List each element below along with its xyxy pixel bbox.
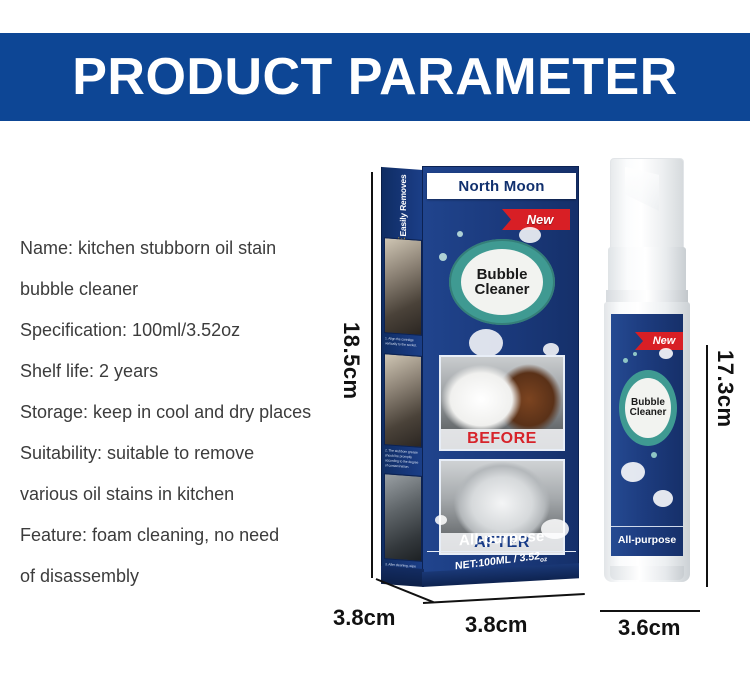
spec-line-storage: Storage: keep in cool and dry places	[20, 392, 350, 433]
bubble-decoration-icon	[651, 452, 657, 458]
before-photo-label: BEFORE	[441, 429, 563, 449]
side-fineprint-2: 2. The stubborn grease should be promptl…	[385, 448, 421, 470]
side-photo-clean-mesh	[384, 473, 422, 562]
bubble-decoration-icon	[519, 227, 541, 243]
carton-new-badge-label: New	[519, 212, 554, 227]
carton-front-panel: North Moon New Bubble Cleaner BEFORE	[422, 166, 579, 573]
carton-depth-dimension-label: 3.8cm	[333, 605, 395, 631]
carton-base	[381, 569, 579, 589]
bubble-decoration-icon	[439, 253, 447, 261]
bottle-pump-neck	[608, 247, 686, 293]
side-headline-easily-removes: Easily Removes	[399, 174, 408, 237]
carton-new-badge: New	[502, 209, 570, 230]
bubble-decoration-icon	[457, 231, 463, 237]
carton-logo-line-2: Cleaner	[474, 282, 529, 297]
bottle-width-dimension-line	[600, 610, 700, 612]
product-carton: Easily Removes TOUGH GREASE 1. Align the…	[381, 166, 579, 581]
bottle-height-dimension-label: 17.3cm	[712, 350, 738, 428]
carton-before-photo: BEFORE	[439, 355, 565, 451]
product-parameter-infographic: PRODUCT PARAMETER Name: kitchen stubborn…	[0, 0, 750, 673]
spec-line-feature-2: of disassembly	[20, 556, 350, 597]
bottle-logo-line-2: Cleaner	[630, 408, 667, 418]
side-photo-dirty-pan	[384, 237, 422, 336]
carton-side-panel: Easily Removes TOUGH GREASE 1. Align the…	[381, 167, 423, 570]
carton-height-dimension-line	[371, 172, 373, 578]
carton-side-headline: Easily Removes TOUGH GREASE	[384, 173, 422, 236]
carton-logo-badge: Bubble Cleaner	[449, 239, 555, 325]
bottle-all-purpose-label: All-purpose	[618, 534, 676, 546]
spec-line-shelf-life: Shelf life: 2 years	[20, 351, 350, 392]
bubble-decoration-icon	[623, 358, 628, 363]
bottle-all-purpose: All-purpose	[611, 526, 683, 548]
bottle-height-dimension-line	[706, 345, 708, 587]
bubble-decoration-icon	[659, 348, 673, 359]
bottle-new-badge: New	[635, 332, 683, 350]
carton-logo-inner: Bubble Cleaner	[461, 249, 543, 315]
spec-line-name-2: bubble cleaner	[20, 269, 350, 310]
product-bottle: New Bubble Cleaner All-purpose	[600, 158, 696, 586]
bottle-label: New Bubble Cleaner All-purpose	[611, 314, 683, 556]
spec-line-specification: Specification: 100ml/3.52oz	[20, 310, 350, 351]
bubble-decoration-icon	[435, 515, 447, 525]
bottle-new-badge-label: New	[647, 335, 676, 347]
bubble-decoration-icon	[621, 462, 645, 482]
cap-highlight	[625, 167, 659, 211]
side-fineprint-1: 1. Align the cartridge vertically to the…	[385, 336, 421, 349]
bottle-foot	[610, 566, 684, 580]
carton-height-dimension-label: 18.5cm	[338, 322, 364, 400]
specification-list: Name: kitchen stubborn oil stain bubble …	[20, 228, 350, 597]
spec-line-feature-1: Feature: foam cleaning, no need	[20, 515, 350, 556]
spec-line-name-1: Name: kitchen stubborn oil stain	[20, 228, 350, 269]
bottle-logo-inner: Bubble Cleaner	[625, 378, 671, 438]
side-photo-greasy-surface	[384, 353, 422, 448]
carton-all-purpose: All-purpose	[429, 530, 574, 548]
bottle-pump-cap	[610, 158, 684, 250]
bubble-decoration-icon	[633, 352, 637, 356]
carton-logo-line-1: Bubble	[477, 267, 528, 282]
bottle-body: New Bubble Cleaner All-purpose	[604, 302, 690, 582]
carton-brand-name: North Moon	[458, 178, 544, 195]
carton-all-purpose-label: All-purpose	[459, 528, 545, 549]
carton-brand-bar: North Moon	[427, 173, 576, 199]
bottle-logo-badge: Bubble Cleaner	[619, 370, 677, 446]
header-banner: PRODUCT PARAMETER	[0, 33, 750, 121]
page-title: PRODUCT PARAMETER	[72, 47, 678, 107]
carton-width-dimension-label: 3.8cm	[465, 612, 527, 638]
bubble-decoration-icon	[469, 329, 503, 357]
bottle-width-dimension-label: 3.6cm	[618, 615, 680, 641]
spec-line-suitability-2: various oil stains in kitchen	[20, 474, 350, 515]
bubble-decoration-icon	[653, 490, 673, 507]
spec-line-suitability-1: Suitability: suitable to remove	[20, 433, 350, 474]
carton-width-dimension-line	[423, 593, 585, 604]
